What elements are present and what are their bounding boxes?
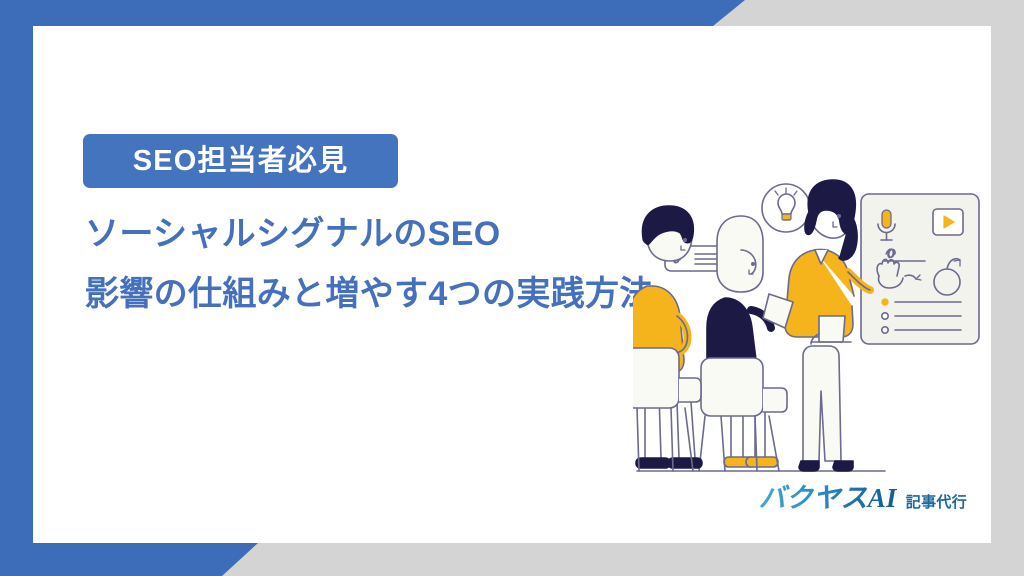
title-line-1: ソーシャルシグナルのSEO [85,211,705,257]
brand-name: バクヤスAI [759,476,897,515]
lightbulb-idea-icon [762,184,810,232]
thumbnail-canvas: SEO担当者必見 ソーシャルシグナルのSEO 影響の仕組みと増やす4つの実践方法 [0,0,1024,576]
brand-service-label: 記事代行 [906,491,967,512]
content-card: SEO担当者必見 ソーシャルシグナルのSEO 影響の仕組みと増やす4つの実践方法 [33,26,991,543]
title-line-2: 影響の仕組みと増やす4つの実践方法 [85,271,705,317]
play-button-icon [933,209,963,235]
whiteboard-panel [861,194,979,344]
frame-blue-bottom [0,543,258,576]
page-title: ソーシャルシグナルのSEO 影響の仕組みと増やす4つの実践方法 [85,211,705,317]
presentation-meeting-illustration [633,176,993,506]
badge-seo-label: SEO担当者必見 [83,134,398,188]
badge-text: SEO担当者必見 [133,147,349,176]
brand-logo: バクヤスAI 記事代行 [759,476,967,515]
